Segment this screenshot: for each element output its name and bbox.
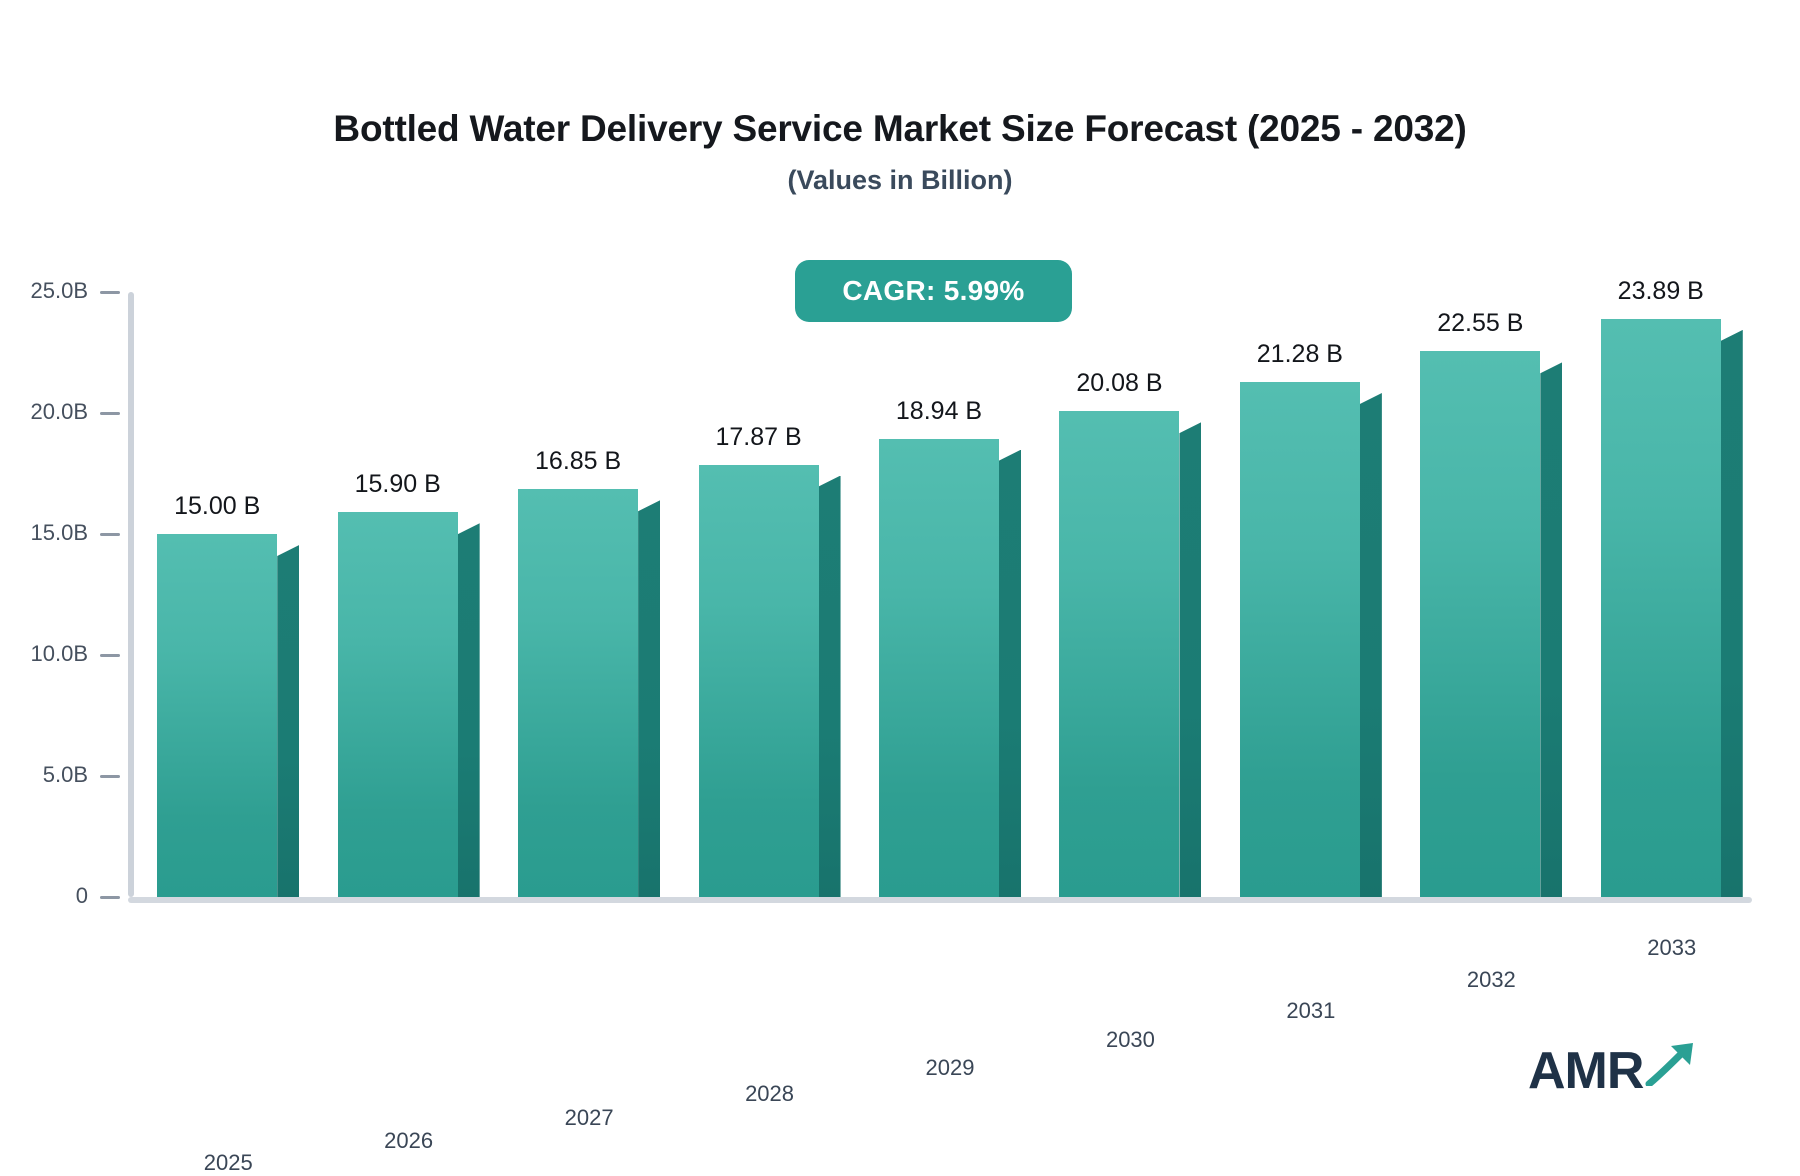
bar-side-face [1721, 330, 1743, 897]
bars-layer: 15.00 B202515.90 B202616.85 B202717.87 B… [128, 292, 1752, 897]
bar-front-face [338, 512, 458, 897]
y-axis-tick-label: 15.0B [31, 520, 89, 546]
bar-group[interactable]: 15.90 B2026 [338, 512, 458, 897]
bar-value-label: 21.28 B [1257, 340, 1343, 369]
bar-group[interactable]: 20.08 B2030 [1059, 411, 1179, 897]
y-axis-tick-mark [100, 412, 120, 415]
y-axis-tick-label: 10.0B [31, 641, 89, 667]
y-axis-tick-label: 5.0B [43, 762, 88, 788]
bar-value-label: 18.94 B [896, 397, 982, 426]
bar-value-label: 15.00 B [174, 492, 260, 521]
bar-side-face [999, 450, 1021, 897]
x-axis-category-label: 2025 [204, 1150, 253, 1176]
bar-value-label: 22.55 B [1437, 309, 1523, 338]
bar-group[interactable]: 22.55 B2032 [1420, 351, 1540, 897]
page-title: Bottled Water Delivery Service Market Si… [0, 108, 1800, 151]
bar-side-face [1360, 393, 1382, 897]
x-axis-category-label: 2026 [384, 1128, 433, 1154]
title-block: Bottled Water Delivery Service Market Si… [0, 108, 1800, 196]
plot-area: 05.0B10.0B15.0B20.0B25.0B 15.00 B202515.… [128, 292, 1752, 897]
x-axis-category-label: 2029 [926, 1055, 975, 1081]
y-axis-tick-label: 20.0B [31, 399, 89, 425]
bar-group[interactable]: 17.87 B2028 [699, 465, 819, 897]
bar-side-face [638, 500, 660, 897]
y-axis-tick-mark [100, 654, 120, 657]
y-axis-tick-mark [100, 896, 120, 899]
chart-subtitle: (Values in Billion) [0, 165, 1800, 196]
bar-front-face [879, 439, 999, 897]
y-axis-tick-label: 25.0B [31, 278, 89, 304]
bar-side-face [458, 523, 480, 897]
y-axis-tick-mark [100, 775, 120, 778]
amr-logo-text: AMR [1528, 1045, 1643, 1097]
bar-front-face [1420, 351, 1540, 897]
bar-group[interactable]: 23.89 B2033 [1601, 319, 1721, 897]
bar-group[interactable]: 15.00 B2025 [157, 534, 277, 897]
x-axis-category-label: 2032 [1467, 967, 1516, 993]
x-axis-category-label: 2031 [1286, 998, 1335, 1024]
bar-side-face [1540, 362, 1562, 897]
bar-value-label: 23.89 B [1618, 277, 1704, 306]
bar-side-face [1179, 422, 1201, 897]
bar-value-label: 17.87 B [715, 423, 801, 452]
bar-side-face [277, 545, 299, 897]
bar-value-label: 20.08 B [1076, 369, 1162, 398]
bar-group[interactable]: 16.85 B2027 [518, 489, 638, 897]
x-axis-category-label: 2028 [745, 1081, 794, 1107]
bar-front-face [157, 534, 277, 897]
x-axis-category-label: 2030 [1106, 1027, 1155, 1053]
x-axis-line [128, 897, 1752, 903]
y-axis-tick-label: 0 [76, 883, 88, 909]
chart-container: Bottled Water Delivery Service Market Si… [0, 0, 1800, 1156]
bar-front-face [1601, 319, 1721, 897]
bar-value-label: 15.90 B [355, 470, 441, 499]
bar-front-face [518, 489, 638, 897]
bar-front-face [699, 465, 819, 897]
bar-group[interactable]: 18.94 B2029 [879, 439, 999, 897]
trend-arrow-icon [1645, 1040, 1701, 1091]
x-axis-category-label: 2033 [1647, 935, 1696, 961]
bar-side-face [819, 476, 841, 897]
y-axis-tick-mark [100, 533, 120, 536]
amr-logo: AMR [1528, 1040, 1701, 1097]
y-axis-tick-mark [100, 291, 120, 294]
bar-front-face [1059, 411, 1179, 897]
bar-group[interactable]: 21.28 B2031 [1240, 382, 1360, 897]
x-axis-category-label: 2027 [565, 1105, 614, 1131]
bar-value-label: 16.85 B [535, 447, 621, 476]
bar-front-face [1240, 382, 1360, 897]
